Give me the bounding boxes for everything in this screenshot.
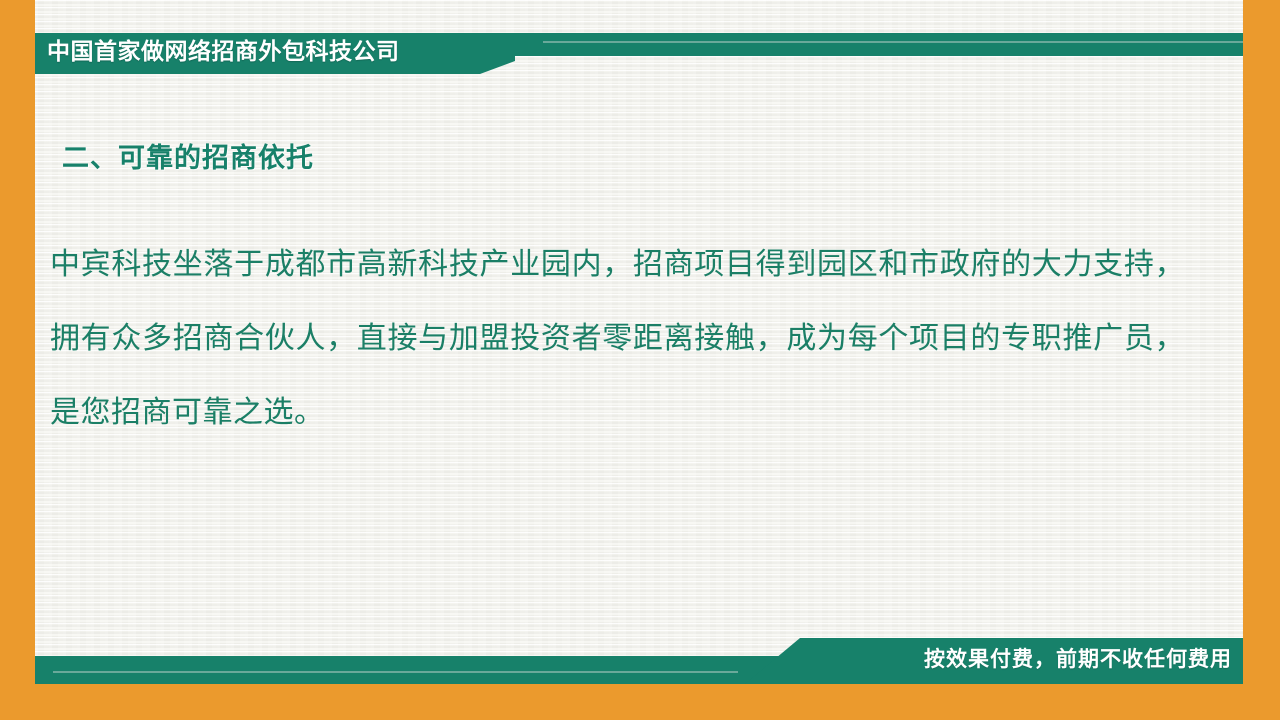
section-heading: 二、可靠的招商依托 xyxy=(62,136,314,175)
header-title: 中国首家做网络招商外包科技公司 xyxy=(47,34,400,68)
footer-tagline: 按效果付费，前期不收任何费用 xyxy=(924,645,1232,675)
body-copy: 中宾科技坐落于成都市高新科技产业园内，招商项目得到园区和市政府的大力支持，拥有众… xyxy=(50,228,1185,450)
slide-root: 中国首家做网络招商外包科技公司 二、可靠的招商依托 中宾科技坐落于成都市高新科技… xyxy=(0,0,1280,720)
body-paragraph: 中宾科技坐落于成都市高新科技产业园内，招商项目得到园区和市政府的大力支持，拥有众… xyxy=(50,228,1185,450)
